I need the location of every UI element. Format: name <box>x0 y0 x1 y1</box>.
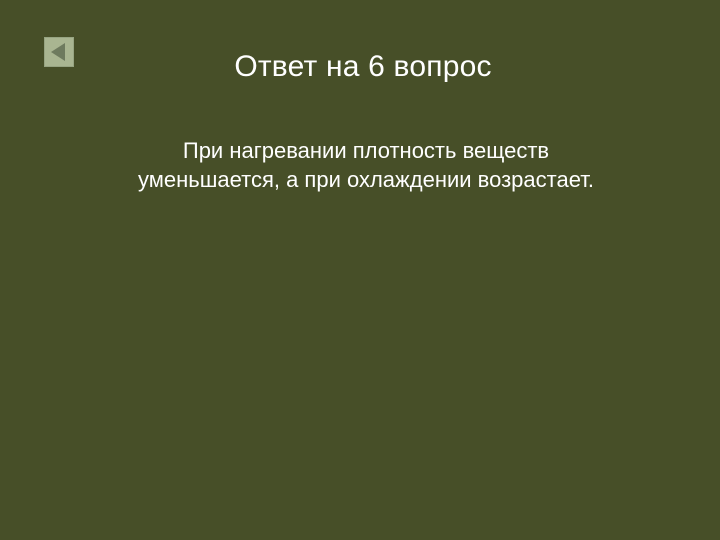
slide-canvas: Ответ на 6 вопрос При нагревании плотнос… <box>0 0 720 540</box>
paragraph-line: При нагревании плотность веществ <box>42 136 690 165</box>
paragraph-line: уменьшается, а при охлаждении возрастает… <box>42 165 690 194</box>
page-title: Ответ на 6 вопрос <box>0 48 720 86</box>
answer-paragraph: При нагревании плотность веществ уменьша… <box>30 136 690 194</box>
